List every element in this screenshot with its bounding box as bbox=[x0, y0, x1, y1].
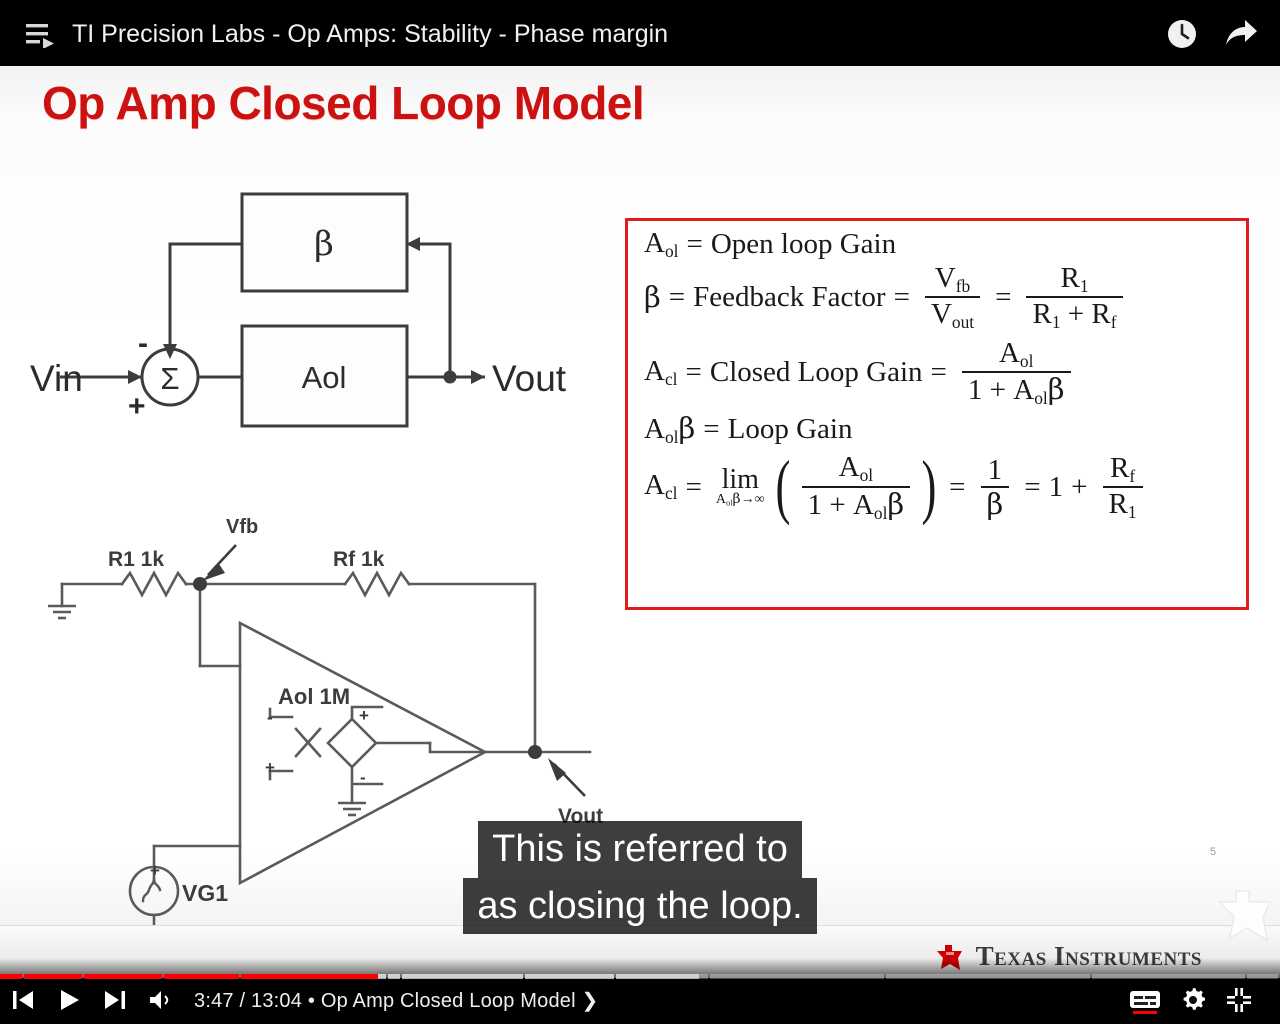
lim-text: lim bbox=[722, 466, 759, 494]
aol-numerator: A bbox=[999, 337, 1020, 369]
beta-symbol: β bbox=[678, 411, 695, 445]
rf-over-r1-fraction: Rf R1 bbox=[1103, 453, 1143, 522]
equals-sign: = bbox=[703, 415, 719, 444]
gear-icon bbox=[1180, 987, 1206, 1013]
vout-denominator: V bbox=[931, 298, 952, 330]
equals-sign: = bbox=[1024, 473, 1040, 502]
opamp-noninverting-sign: + bbox=[265, 758, 275, 777]
r1-denominator: R bbox=[1032, 298, 1051, 330]
progress-chapter-segment[interactable] bbox=[241, 974, 386, 979]
equation-open-loop-gain: Aol = Open loop Gain bbox=[644, 229, 1238, 261]
beta-symbol: β bbox=[644, 283, 661, 312]
rf-subscript: f bbox=[1129, 466, 1135, 486]
acl-symbol: A bbox=[644, 355, 665, 387]
subtitles-active-indicator bbox=[1133, 1011, 1157, 1014]
rf-denominator: R bbox=[1091, 298, 1110, 330]
equation-loop-gain: Aolβ = Loop Gain bbox=[644, 414, 1238, 447]
circuit-schematic: R1 1k Rf 1k Vfb Aol 1M Vout VG1 - + + - … bbox=[30, 451, 620, 931]
subtitles-button[interactable] bbox=[1120, 980, 1170, 1020]
player-bottom-bar: 3:47 / 13:04 • Op Amp Closed Loop Model … bbox=[0, 958, 1280, 1024]
closed-captions-icon bbox=[1129, 988, 1161, 1012]
progress-chapter-segment[interactable] bbox=[84, 974, 163, 979]
plus-sign: + bbox=[1068, 298, 1084, 330]
texas-state-watermark-icon bbox=[1214, 886, 1278, 944]
buffered-fill bbox=[616, 974, 698, 979]
player-top-bar: TI Precision Labs - Op Amps: Stability -… bbox=[0, 0, 1280, 66]
vout-label: Vout bbox=[492, 358, 567, 399]
equation-feedback-factor: β = Feedback Factor = Vfb Vout = R1 R1 +… bbox=[644, 263, 1238, 332]
vfb-numerator: V bbox=[935, 262, 956, 294]
one-term: 1 bbox=[808, 489, 823, 521]
beta-symbol: β bbox=[887, 487, 904, 521]
vfb-label: Vfb bbox=[226, 516, 258, 538]
equations-panel: Aol = Open loop Gain β = Feedback Factor… bbox=[625, 218, 1249, 610]
close-paren: ) bbox=[922, 458, 937, 516]
next-button[interactable] bbox=[92, 980, 138, 1020]
aol-subscript: ol bbox=[1020, 351, 1034, 371]
lim-aol: A bbox=[716, 492, 726, 507]
slide-content: Op Amp Closed Loop Model bbox=[0, 66, 1280, 978]
equals-sign: = bbox=[669, 283, 685, 312]
total-time: 13:04 bbox=[251, 990, 302, 1012]
feedback-factor-text: Feedback Factor bbox=[693, 283, 885, 312]
progress-chapter-segment[interactable] bbox=[402, 974, 523, 979]
aol-symbol: A bbox=[644, 227, 665, 259]
share-arrow-icon[interactable] bbox=[1224, 18, 1258, 55]
vout-subscript: out bbox=[952, 312, 974, 332]
sum-minus-sign: - bbox=[138, 327, 148, 360]
equals-sign: = bbox=[894, 283, 910, 312]
aol-den-subscript: ol bbox=[1034, 388, 1048, 408]
lim-beta: β bbox=[733, 491, 741, 507]
settings-button[interactable] bbox=[1170, 980, 1216, 1020]
aol-over-one-plus-aolbeta-fraction: Aol 1 + Aolβ bbox=[962, 338, 1071, 408]
progress-chapter-segment[interactable] bbox=[1092, 974, 1245, 979]
equation-closed-loop-gain: Acl = Closed Loop Gain = Aol 1 + Aolβ bbox=[644, 338, 1238, 408]
previous-button[interactable] bbox=[0, 980, 46, 1020]
aol-block-label: Aol bbox=[302, 360, 347, 395]
acl-symbol: A bbox=[644, 469, 665, 501]
progress-chapter-segment[interactable] bbox=[616, 974, 708, 979]
clock-icon[interactable] bbox=[1166, 18, 1198, 55]
loop-gain-text: Loop Gain bbox=[728, 415, 853, 444]
progress-chapter-segment[interactable] bbox=[164, 974, 239, 979]
r1-over-r1-rf-fraction: R1 R1 + Rf bbox=[1026, 263, 1122, 332]
equals-sign: = bbox=[686, 358, 702, 387]
control-row: 3:47 / 13:04 • Op Amp Closed Loop Model … bbox=[0, 980, 1280, 1020]
limit-operator: lim Aolβ→∞ bbox=[716, 466, 765, 508]
aol-subscript: ol bbox=[860, 465, 874, 485]
vg1-plus-sign: + bbox=[150, 861, 160, 880]
buffered-fill bbox=[402, 974, 523, 979]
progress-chapter-segment[interactable] bbox=[710, 974, 884, 979]
aol-gain-label: Aol 1M bbox=[278, 684, 350, 709]
aol-denominator: A bbox=[1013, 374, 1034, 406]
vout-node-label: Vout bbox=[558, 805, 603, 828]
aol-symbol: A bbox=[644, 413, 665, 445]
rf-subscript: f bbox=[1111, 312, 1117, 332]
current-time: 3:47 bbox=[194, 990, 234, 1012]
aol-den-subscript: ol bbox=[874, 503, 888, 523]
r1-subscript: 1 bbox=[1128, 502, 1137, 522]
equation-limit-closed-loop: Acl = lim Aolβ→∞ ( Aol 1 + Aolβ ) = 1 bbox=[644, 452, 1238, 522]
progress-chapter-segment[interactable] bbox=[525, 974, 615, 979]
progress-chapter-segment[interactable] bbox=[886, 974, 1090, 979]
r1-label: R1 1k bbox=[108, 548, 164, 571]
equals-sign: = bbox=[995, 283, 1011, 312]
progress-bar[interactable] bbox=[0, 972, 1280, 980]
one-over-beta-fraction: 1 β bbox=[981, 455, 1010, 520]
progress-chapter-segment[interactable] bbox=[1247, 974, 1278, 979]
played-fill bbox=[164, 974, 239, 979]
played-fill bbox=[84, 974, 163, 979]
acl-subscript: cl bbox=[665, 369, 678, 389]
video-title[interactable]: TI Precision Labs - Op Amps: Stability -… bbox=[72, 20, 668, 49]
exit-fullscreen-button[interactable] bbox=[1216, 980, 1262, 1020]
played-fill bbox=[0, 974, 22, 979]
block-diagram: β Aol Σ Vin Vout - + bbox=[30, 181, 610, 431]
closed-loop-gain-text: Closed Loop Gain bbox=[710, 358, 923, 387]
open-paren: ( bbox=[775, 458, 790, 516]
opamp-inverting-sign: - bbox=[267, 708, 273, 727]
progress-chapter-segment[interactable] bbox=[24, 974, 81, 979]
limit-fraction: Aol 1 + Aolβ bbox=[802, 452, 911, 522]
dependent-source-minus: - bbox=[360, 768, 366, 787]
r1-subscript: 1 bbox=[1080, 276, 1089, 296]
volume-button[interactable] bbox=[138, 980, 184, 1020]
right-controls bbox=[1120, 980, 1280, 1020]
equals-sign: = bbox=[949, 473, 965, 502]
chapter-title[interactable]: Op Amp Closed Loop Model bbox=[321, 990, 576, 1012]
equals-sign: = bbox=[686, 230, 702, 259]
slide-title: Op Amp Closed Loop Model bbox=[42, 76, 644, 130]
sum-symbol: Σ bbox=[160, 361, 179, 396]
aol-subscript: ol bbox=[665, 241, 679, 261]
plus-sign: + bbox=[990, 374, 1006, 406]
one-term: 1 bbox=[1049, 473, 1064, 502]
progress-chapter-segment[interactable] bbox=[0, 974, 22, 979]
time-and-chapter: 3:47 / 13:04 • Op Amp Closed Loop Model … bbox=[194, 988, 599, 1013]
buffered-fill bbox=[525, 974, 615, 979]
beta-denominator: β bbox=[981, 486, 1010, 519]
buffered-fill bbox=[388, 974, 400, 979]
open-loop-gain-text: Open loop Gain bbox=[711, 230, 896, 259]
playlist-queue-icon[interactable] bbox=[26, 22, 56, 53]
chapter-chevron-icon[interactable]: ❯ bbox=[582, 990, 599, 1012]
aol-denominator: A bbox=[853, 489, 874, 521]
r1-numerator: R bbox=[1060, 262, 1079, 294]
one-term: 1 bbox=[968, 374, 983, 406]
equals-sign: = bbox=[931, 358, 947, 387]
one-numerator: 1 bbox=[982, 455, 1009, 486]
dependent-source-plus: + bbox=[359, 706, 369, 725]
time-separator: / bbox=[240, 990, 246, 1012]
beta-symbol: β bbox=[1048, 372, 1065, 406]
plus-sign: + bbox=[829, 489, 845, 521]
aol-subscript: ol bbox=[665, 427, 679, 447]
lim-arrow-infinity: →∞ bbox=[741, 492, 765, 507]
slide-page-number: 5 bbox=[1210, 846, 1216, 858]
vg1-label: VG1 bbox=[182, 880, 228, 906]
vfb-over-vout-fraction: Vfb Vout bbox=[925, 263, 980, 332]
acl-subscript: cl bbox=[665, 484, 678, 504]
sum-plus-sign: + bbox=[128, 390, 146, 423]
beta-block-label: β bbox=[314, 224, 334, 264]
progress-chapter-segment[interactable] bbox=[388, 974, 400, 979]
played-fill bbox=[241, 974, 378, 979]
chapter-separator: • bbox=[308, 990, 315, 1012]
rf-label: Rf 1k bbox=[333, 548, 385, 571]
r1-denominator: R bbox=[1109, 488, 1128, 520]
equals-sign: = bbox=[686, 473, 702, 502]
exit-fullscreen-icon bbox=[1226, 987, 1252, 1013]
plus-sign: + bbox=[1071, 473, 1087, 502]
r1-den-subscript: 1 bbox=[1052, 312, 1061, 332]
aol-numerator: A bbox=[839, 451, 860, 483]
vfb-subscript: fb bbox=[956, 276, 971, 296]
played-fill bbox=[24, 974, 81, 979]
rf-numerator: R bbox=[1110, 452, 1129, 484]
play-button[interactable] bbox=[46, 980, 92, 1020]
vin-label: Vin bbox=[30, 358, 83, 399]
video-player: Op Amp Closed Loop Model bbox=[0, 0, 1280, 1024]
